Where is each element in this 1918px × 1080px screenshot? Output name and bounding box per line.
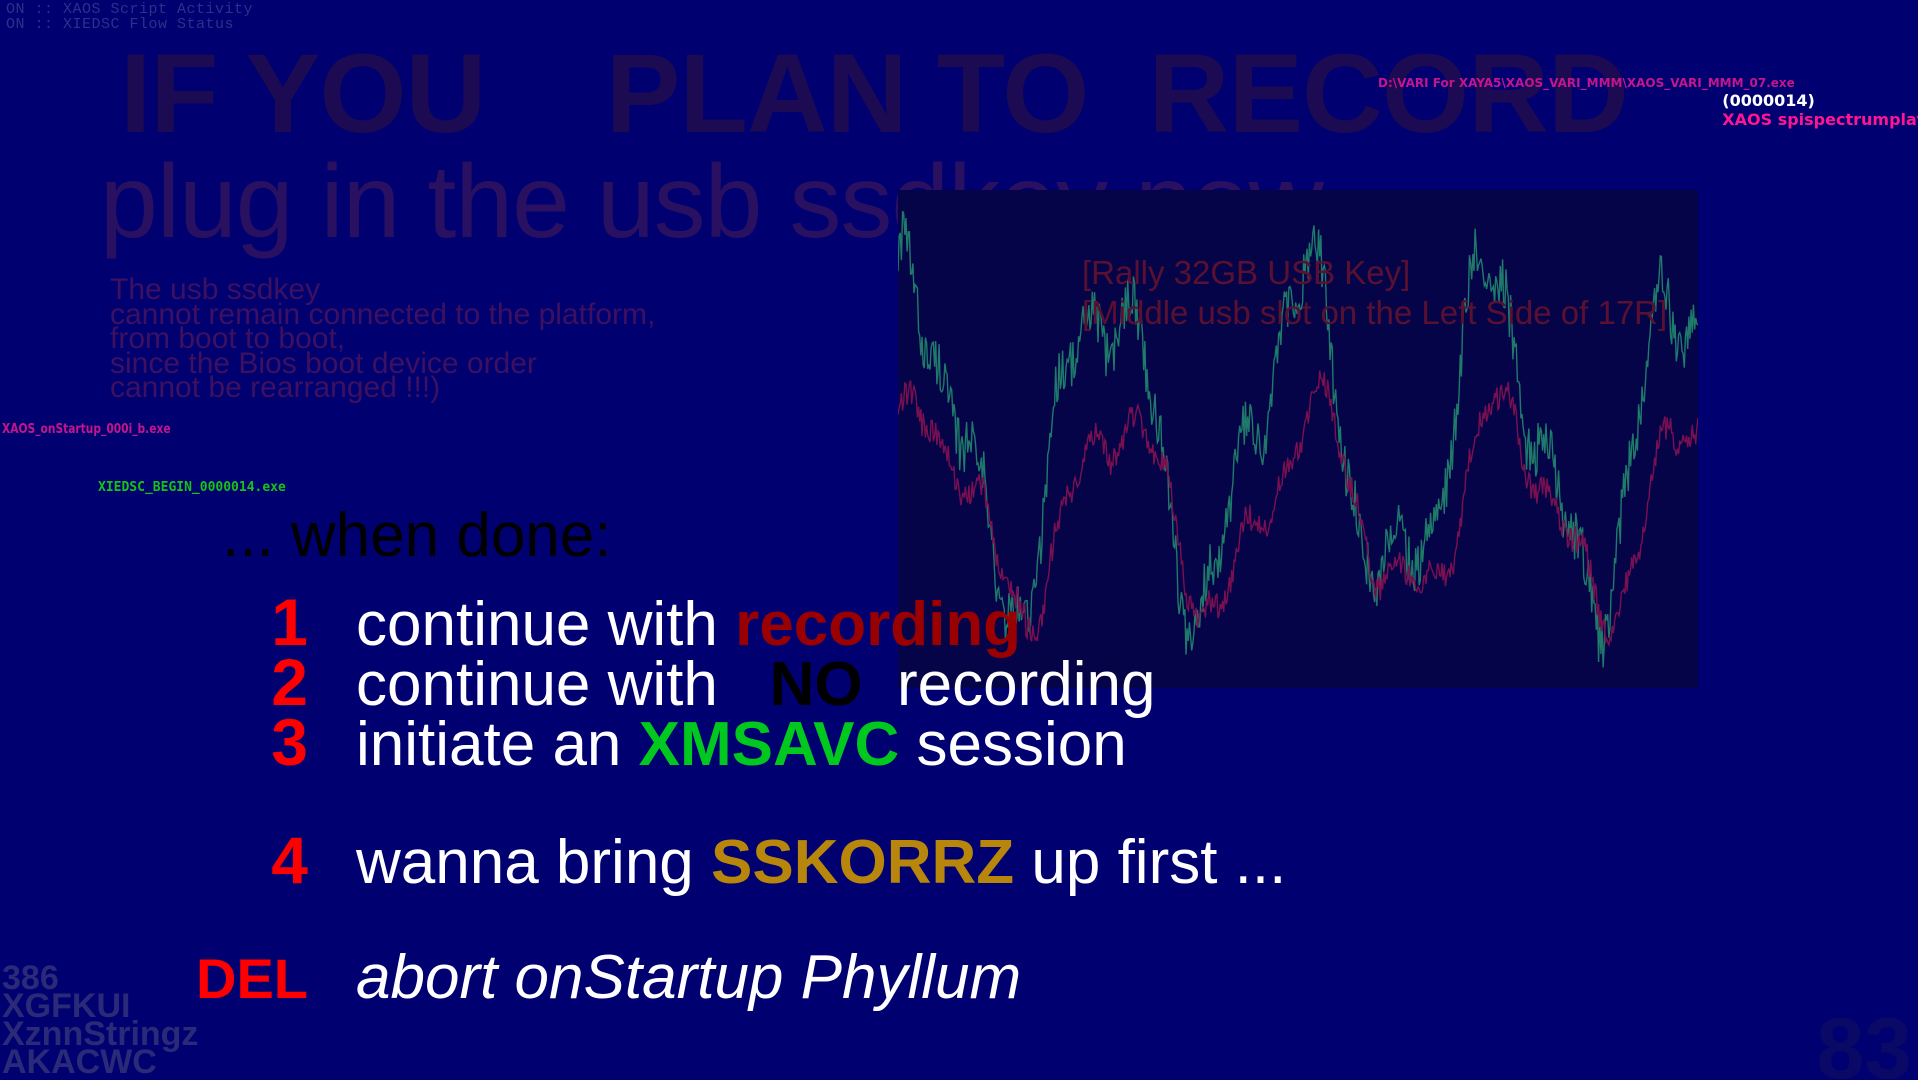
menu-option-2[interactable]: 2continue with NO recording bbox=[190, 652, 1590, 712]
menu-label-highlight: recording bbox=[735, 590, 1021, 659]
menu-option-key[interactable]: 2 bbox=[190, 652, 356, 712]
stream-status-tag: (0000014) XAOS spispectrumplay bbox=[1700, 72, 1918, 148]
app-screen: ON :: XAOS Script Activity ON :: XIEDSC … bbox=[0, 0, 1918, 1080]
usb-key-caption: [Rally 32GB USB Key] [Middle usb slot on… bbox=[1082, 253, 1667, 333]
menu-option-1[interactable]: 1continue with recording bbox=[190, 592, 1590, 652]
menu-label-pre: continue with bbox=[356, 650, 770, 719]
menu-option-3[interactable]: 3initiate an XMSAVC session bbox=[190, 712, 1590, 772]
menu-option-4[interactable]: 4wanna bring SSKORRZ up first ... bbox=[190, 830, 1590, 890]
menu-option-key[interactable]: 4 bbox=[190, 830, 356, 890]
menu-label-pre: abort onStartup Phyllum bbox=[356, 943, 1021, 1012]
menu-label-highlight: NO bbox=[770, 650, 863, 719]
onstartup-exe-label: XAOS_onStartup_000i_b.exe bbox=[2, 422, 171, 437]
menu-option-key[interactable]: 3 bbox=[190, 712, 356, 772]
stream-name: XAOS spispectrumplay bbox=[1722, 110, 1918, 129]
startup-options-menu: 1continue with recording2continue with N… bbox=[190, 592, 1590, 1008]
corner-frame-number: 83 bbox=[1816, 1006, 1912, 1080]
xiedsc-begin-exe-label: XIEDSC_BEGIN_0000014.exe bbox=[98, 480, 286, 495]
menu-option-label: continue with NO recording bbox=[356, 655, 1156, 715]
menu-option-label: continue with recording bbox=[356, 595, 1021, 655]
menu-option-label: abort onStartup Phyllum bbox=[356, 948, 1021, 1008]
menu-label-highlight: SSKORRZ bbox=[711, 828, 1014, 897]
menu-option-label: initiate an XMSAVC session bbox=[356, 715, 1127, 775]
when-done-prompt: ... when done: bbox=[222, 500, 612, 571]
menu-label-post: recording bbox=[863, 650, 1156, 719]
menu-option-key[interactable]: 1 bbox=[190, 592, 356, 652]
usb-warning-note: The usb ssdkey cannot remain connected t… bbox=[110, 278, 655, 401]
headline-primary: IF YOU PLAN TO RECORD bbox=[120, 38, 1628, 150]
menu-label-post: up first ... bbox=[1014, 828, 1286, 897]
menu-option-del[interactable]: DELabort onStartup Phyllum bbox=[190, 948, 1590, 1008]
stream-index: (0000014) bbox=[1722, 91, 1815, 110]
menu-label-pre: wanna bring bbox=[356, 828, 711, 897]
menu-label-highlight: XMSAVC bbox=[639, 710, 900, 779]
menu-label-pre: continue with bbox=[356, 590, 735, 659]
corner-watermark-stack: 386 XGFKUI XznnStringz AKACWC bbox=[2, 964, 198, 1076]
menu-label-pre: initiate an bbox=[356, 710, 639, 779]
menu-option-key[interactable]: DEL bbox=[190, 949, 356, 1009]
menu-label-post: session bbox=[899, 710, 1126, 779]
script-status-lines: ON :: XAOS Script Activity ON :: XIEDSC … bbox=[6, 2, 253, 32]
menu-option-label: wanna bring SSKORRZ up first ... bbox=[356, 833, 1286, 893]
